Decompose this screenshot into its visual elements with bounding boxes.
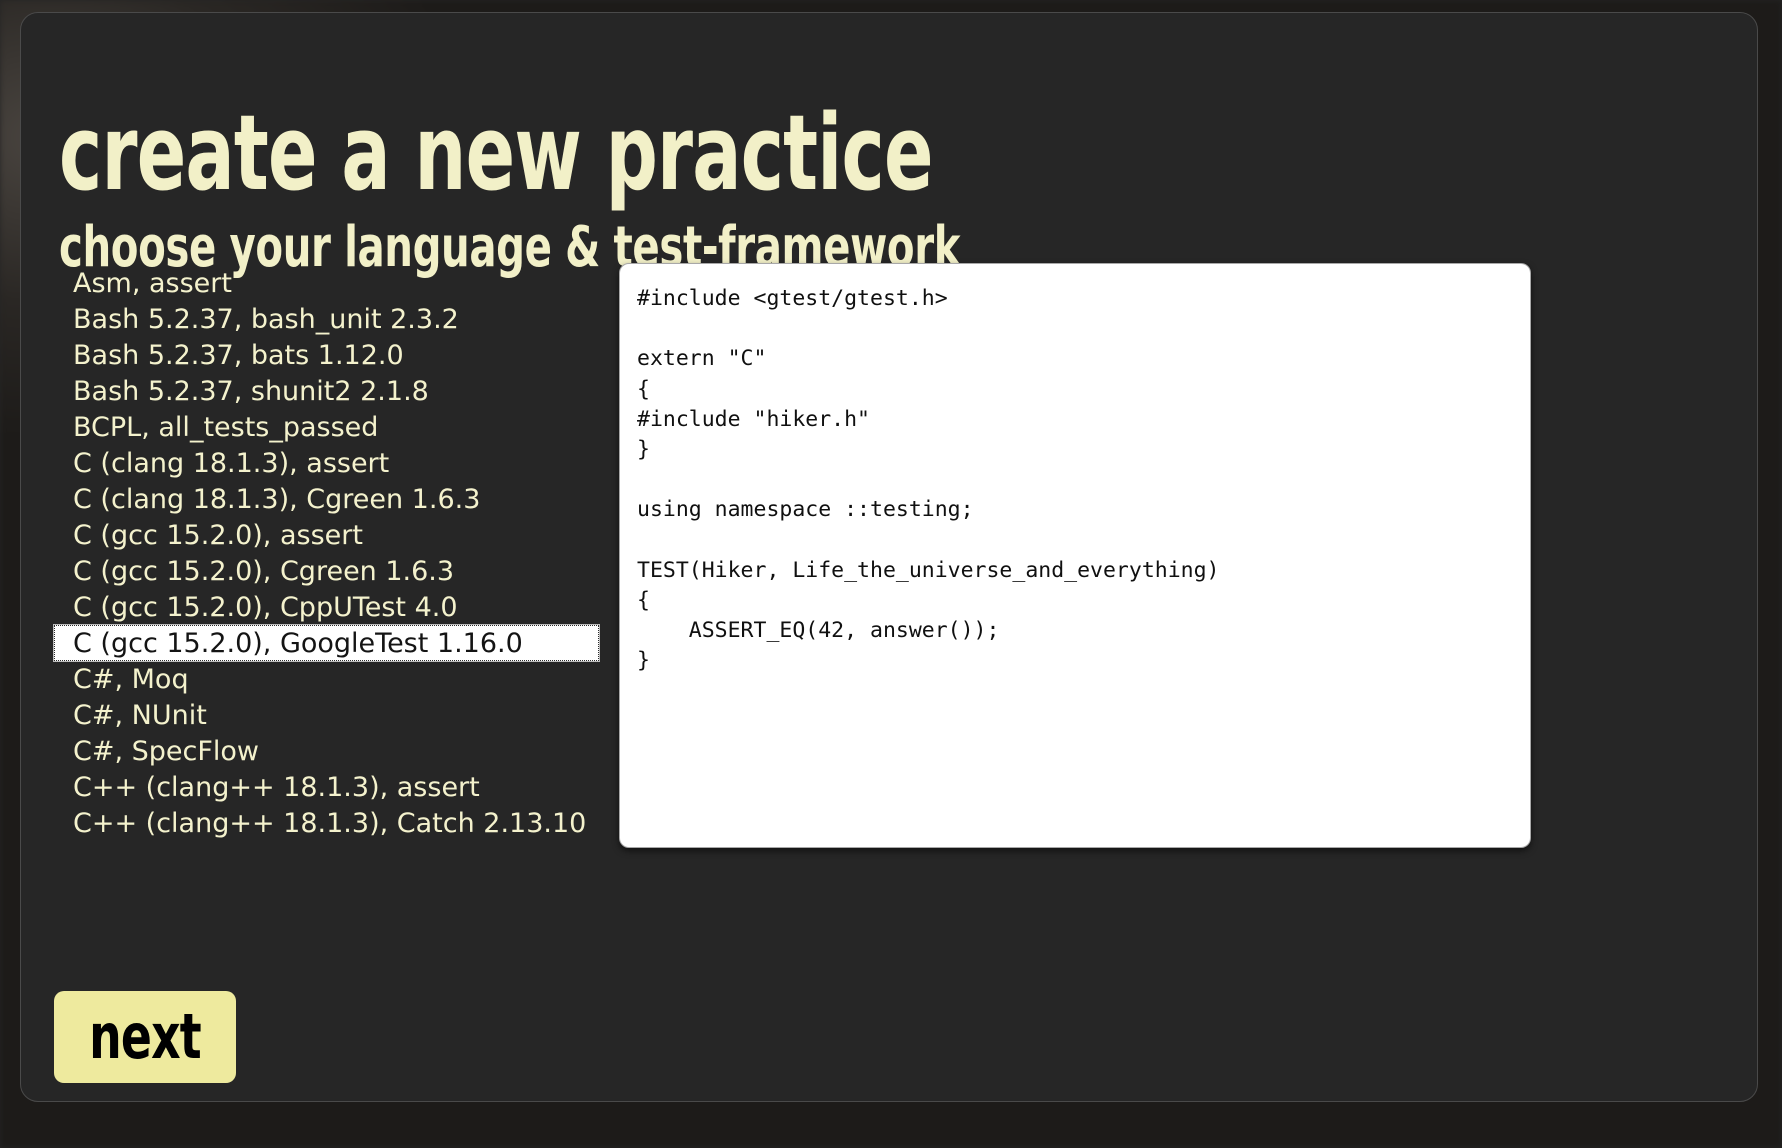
list-item[interactable]: C#, SpecFlow bbox=[54, 733, 599, 769]
list-item[interactable]: C (gcc 15.2.0), Cgreen 1.6.3 bbox=[54, 553, 599, 589]
code-preview-text: #include <gtest/gtest.h> extern "C" { #i… bbox=[620, 264, 1530, 677]
list-item[interactable]: Asm, assert bbox=[54, 265, 599, 301]
code-preview-panel: #include <gtest/gtest.h> extern "C" { #i… bbox=[619, 263, 1531, 848]
list-item[interactable]: C (gcc 15.2.0), CppUTest 4.0 bbox=[54, 589, 599, 625]
list-item[interactable]: C++ (clang++ 18.1.3), assert bbox=[54, 769, 599, 805]
list-item[interactable]: C (gcc 15.2.0), GoogleTest 1.16.0 bbox=[54, 625, 599, 661]
list-item[interactable]: C#, NUnit bbox=[54, 697, 599, 733]
next-button[interactable]: next bbox=[54, 991, 236, 1083]
list-item[interactable]: C (clang 18.1.3), assert bbox=[54, 445, 599, 481]
language-framework-list[interactable]: Asm, assertBash 5.2.37, bash_unit 2.3.2B… bbox=[54, 265, 599, 841]
page-title: create a new practice bbox=[59, 97, 933, 209]
list-item[interactable]: Bash 5.2.37, shunit2 2.1.8 bbox=[54, 373, 599, 409]
create-practice-card: create a new practice choose your langua… bbox=[20, 12, 1758, 1102]
list-item[interactable]: BCPL, all_tests_passed bbox=[54, 409, 599, 445]
next-button-label: next bbox=[70, 991, 219, 1083]
list-item[interactable]: C#, Moq bbox=[54, 661, 599, 697]
list-item[interactable]: C (gcc 15.2.0), assert bbox=[54, 517, 599, 553]
list-item[interactable]: Bash 5.2.37, bats 1.12.0 bbox=[54, 337, 599, 373]
list-item[interactable]: Bash 5.2.37, bash_unit 2.3.2 bbox=[54, 301, 599, 337]
list-item[interactable]: C (clang 18.1.3), Cgreen 1.6.3 bbox=[54, 481, 599, 517]
list-item[interactable]: C++ (clang++ 18.1.3), Catch 2.13.10 bbox=[54, 805, 599, 841]
